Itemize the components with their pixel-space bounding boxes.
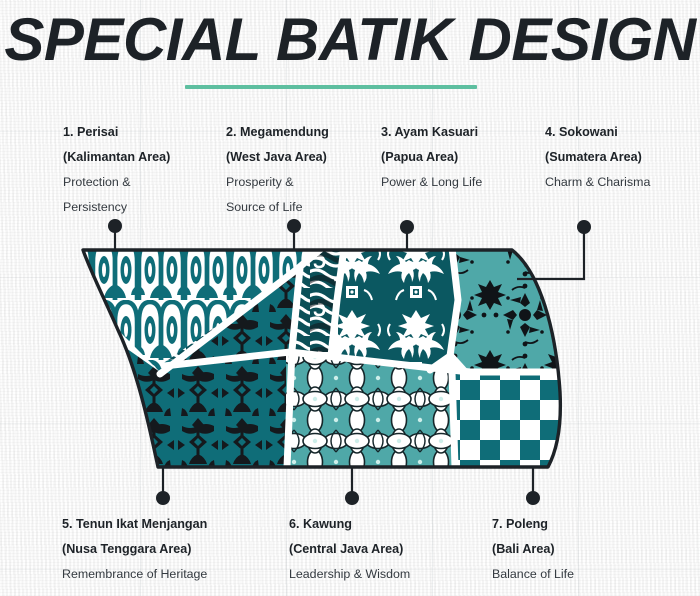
callout-5-title: 5. Tenun Ikat Menjangan <box>62 512 207 537</box>
connector-dot-2 <box>287 219 301 233</box>
callout-5-area: (Nusa Tenggara Area) <box>62 537 207 562</box>
callout-3-title: 3. Ayam Kasuari <box>381 120 482 145</box>
callout-2-megamendung: 2. Megamendung (West Java Area) Prosperi… <box>226 120 329 220</box>
callout-3-meaning-line1: Power & Long Life <box>381 170 482 195</box>
callout-2-title: 2. Megamendung <box>226 120 329 145</box>
callout-1-meaning-line2: Persistency <box>63 195 170 220</box>
callout-6-area: (Central Java Area) <box>289 537 410 562</box>
callout-1-perisai: 1. Perisai (Kalimantan Area) Protection … <box>63 120 170 220</box>
callout-7-poleng: 7. Poleng (Bali Area) Balance of Life <box>492 512 574 587</box>
callout-2-area: (West Java Area) <box>226 145 329 170</box>
connector-dot-6 <box>345 491 359 505</box>
callout-1-area: (Kalimantan Area) <box>63 145 170 170</box>
connector-dot-4 <box>577 220 591 234</box>
callout-connectors <box>0 0 700 596</box>
callout-2-meaning-line2: Source of Life <box>226 195 329 220</box>
callout-1-title: 1. Perisai <box>63 120 170 145</box>
callout-6-title: 6. Kawung <box>289 512 410 537</box>
callout-6-meaning-line1: Leadership & Wisdom <box>289 562 410 587</box>
callout-4-meaning-line1: Charm & Charisma <box>545 170 650 195</box>
connector-dot-1 <box>108 219 122 233</box>
callout-7-area: (Bali Area) <box>492 537 574 562</box>
connector-dot-3 <box>400 220 414 234</box>
connector-line-4 <box>517 229 584 279</box>
callout-1-meaning-line1: Protection & <box>63 170 170 195</box>
callout-7-meaning-line1: Balance of Life <box>492 562 574 587</box>
callout-3-area: (Papua Area) <box>381 145 482 170</box>
callout-4-area: (Sumatera Area) <box>545 145 650 170</box>
infographic-canvas: SPECIAL BATIK DESIGN <box>0 0 700 596</box>
callout-5-meaning-line1: Remembrance of Heritage <box>62 562 207 587</box>
callout-5-tenun-ikat-menjangan: 5. Tenun Ikat Menjangan (Nusa Tenggara A… <box>62 512 207 587</box>
callout-4-title: 4. Sokowani <box>545 120 650 145</box>
connector-dot-7 <box>526 491 540 505</box>
callout-4-sokowani: 4. Sokowani (Sumatera Area) Charm & Char… <box>545 120 650 195</box>
callout-3-ayam-kasuari: 3. Ayam Kasuari (Papua Area) Power & Lon… <box>381 120 482 195</box>
connector-dot-5 <box>156 491 170 505</box>
callout-2-meaning-line1: Prosperity & <box>226 170 329 195</box>
callout-6-kawung: 6. Kawung (Central Java Area) Leadership… <box>289 512 410 587</box>
callout-7-title: 7. Poleng <box>492 512 574 537</box>
